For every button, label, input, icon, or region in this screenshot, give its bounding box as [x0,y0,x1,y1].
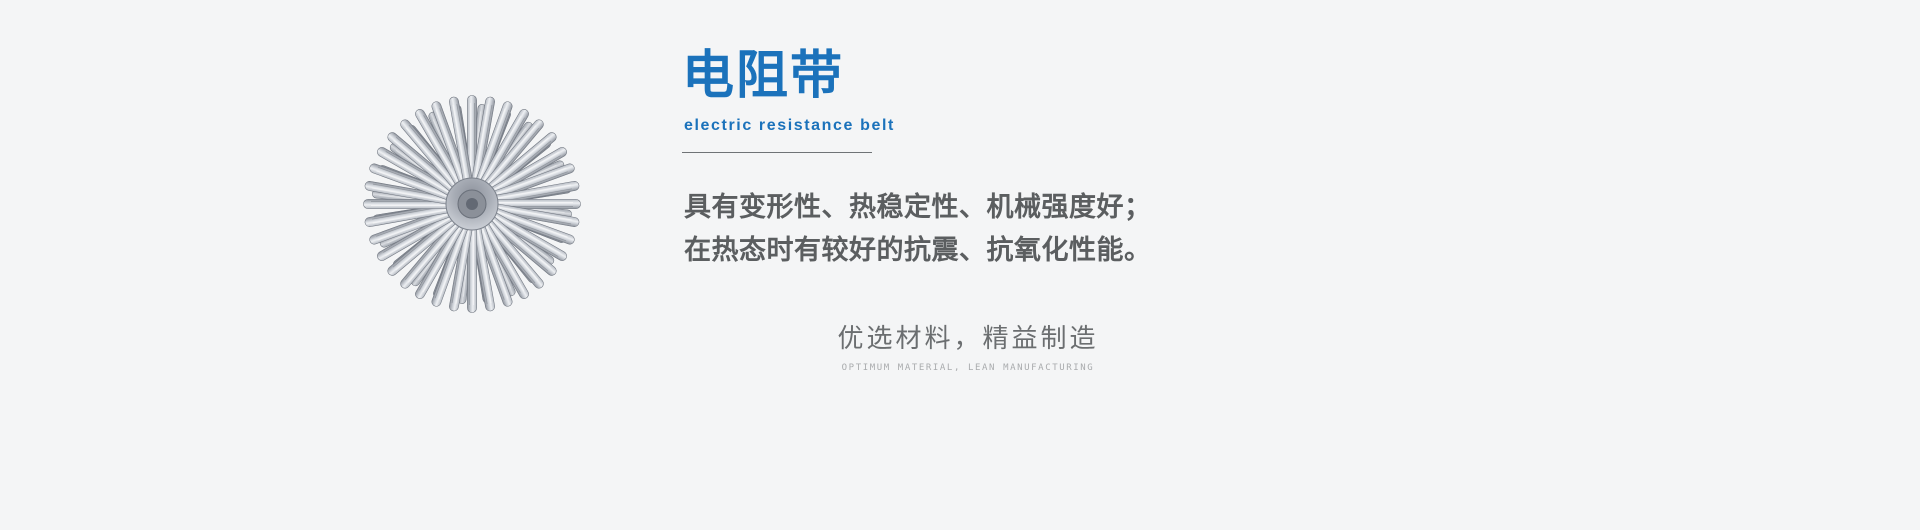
description-line-1: 具有变形性、热稳定性、机械强度好； [684,186,1244,229]
product-banner: 电阻带 electric resistance belt 具有变形性、热稳定性、… [0,0,1920,530]
title-divider [682,152,872,153]
banner-content: 电阻带 electric resistance belt 具有变形性、热稳定性、… [682,0,1682,530]
product-image [296,42,648,372]
page-subtitle: electric resistance belt [684,116,895,136]
description-line-2: 在热态时有较好的抗震、抗氧化性能。 [684,229,1244,272]
description-block: 具有变形性、热稳定性、机械强度好； 在热态时有较好的抗震、抗氧化性能。 [684,186,1244,272]
tagline-block: 优选材料，精益制造 OPTIMUM MATERIAL, LEAN MANUFAC… [778,322,1158,374]
tagline-english: OPTIMUM MATERIAL, LEAN MANUFACTURING [778,362,1158,374]
page-title: 电阻带 [682,47,844,105]
product-figure [296,42,648,372]
tagline-chinese: 优选材料，精益制造 [778,322,1158,356]
